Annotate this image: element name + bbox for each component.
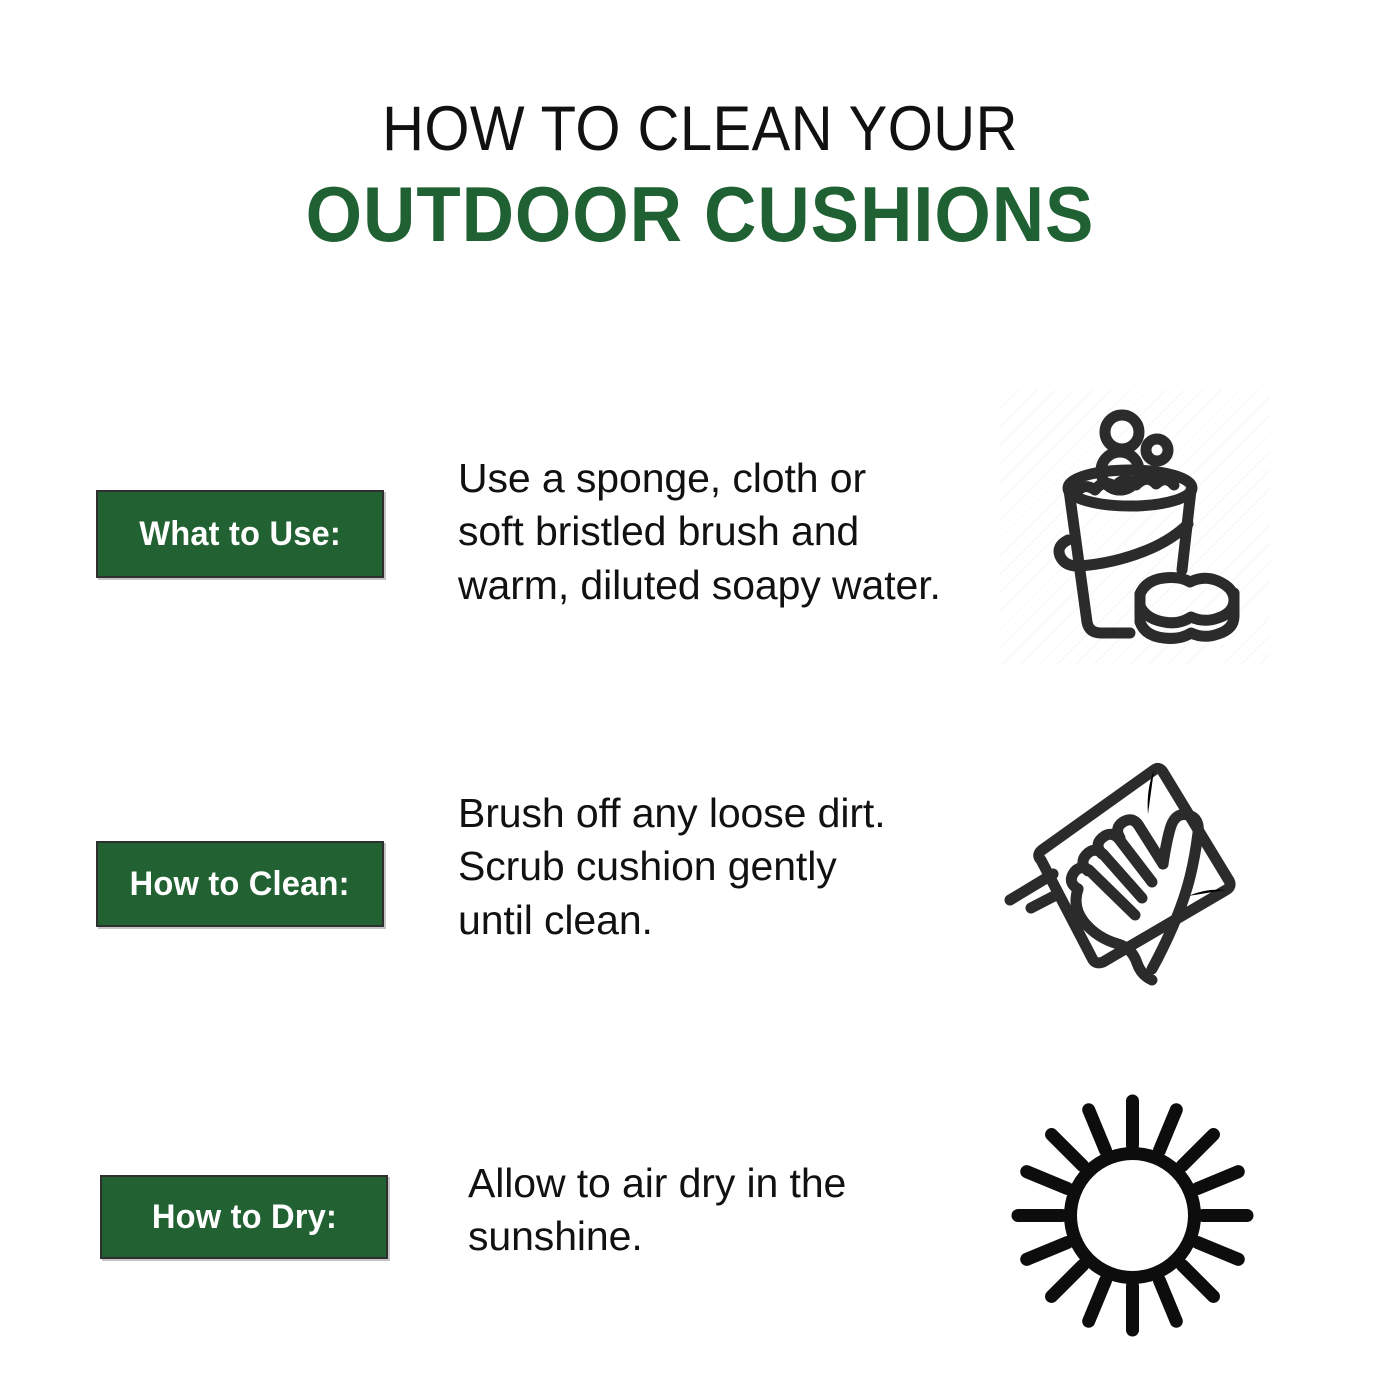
step-label-how-to-clean: How to Clean:	[96, 841, 384, 927]
step-row-what-to-use: What to Use: Use a sponge, cloth or soft…	[0, 390, 1400, 680]
page-title-primary: HOW TO CLEAN YOUR	[56, 96, 1344, 162]
step-label-text: How to Dry:	[151, 1198, 336, 1237]
hand-wiping-cloth-icon	[998, 758, 1248, 993]
step-body-how-to-clean: Brush off any loose dirt. Scrub cushion …	[458, 787, 958, 947]
step-row-how-to-dry: How to Dry: Allow to air dry in the suns…	[0, 1085, 1400, 1365]
icon-stage-how-to-dry	[1004, 1085, 1260, 1345]
step-body-what-to-use: Use a sponge, cloth or soft bristled bru…	[458, 452, 998, 612]
page-title-secondary: OUTDOOR CUSHIONS	[49, 168, 1351, 260]
infographic-page: HOW TO CLEAN YOUR OUTDOOR CUSHIONS What …	[0, 0, 1400, 1400]
step-row-how-to-clean: How to Clean: Brush off any loose dirt. …	[0, 745, 1400, 1035]
sun-icon	[1010, 1093, 1255, 1338]
page-header: HOW TO CLEAN YOUR OUTDOOR CUSHIONS	[0, 96, 1400, 260]
step-label-what-to-use: What to Use:	[96, 490, 384, 578]
step-label-text: What to Use:	[139, 515, 341, 554]
icon-stage-how-to-clean	[992, 753, 1254, 998]
icon-stage-what-to-use	[1000, 390, 1270, 665]
sun-rays	[1018, 1101, 1247, 1330]
step-label-how-to-dry: How to Dry:	[100, 1175, 388, 1259]
step-label-text: How to Clean:	[130, 865, 350, 904]
step-body-how-to-dry: Allow to air dry in the sunshine.	[468, 1157, 928, 1264]
bucket-sponge-suds-icon	[1010, 400, 1260, 655]
